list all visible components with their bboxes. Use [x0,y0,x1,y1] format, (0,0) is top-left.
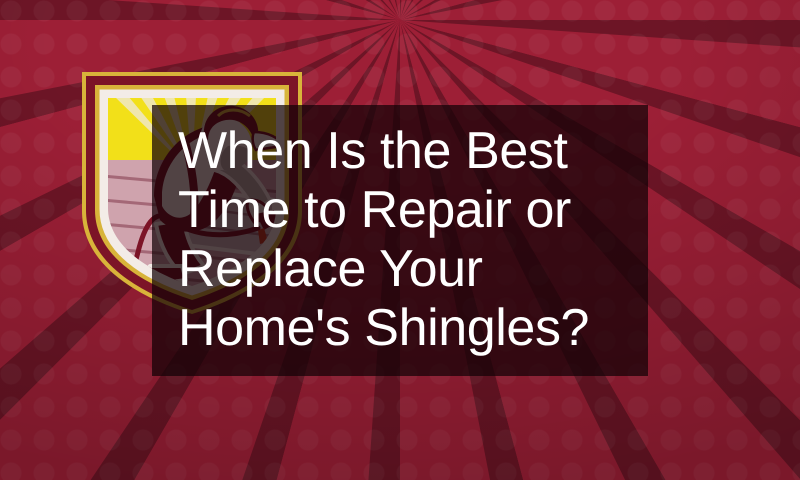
sunburst-ray [400,0,800,20]
page-title: When Is the Best Time to Repair or Repla… [178,122,648,358]
promo-banner: When Is the Best Time to Repair or Repla… [0,0,800,480]
